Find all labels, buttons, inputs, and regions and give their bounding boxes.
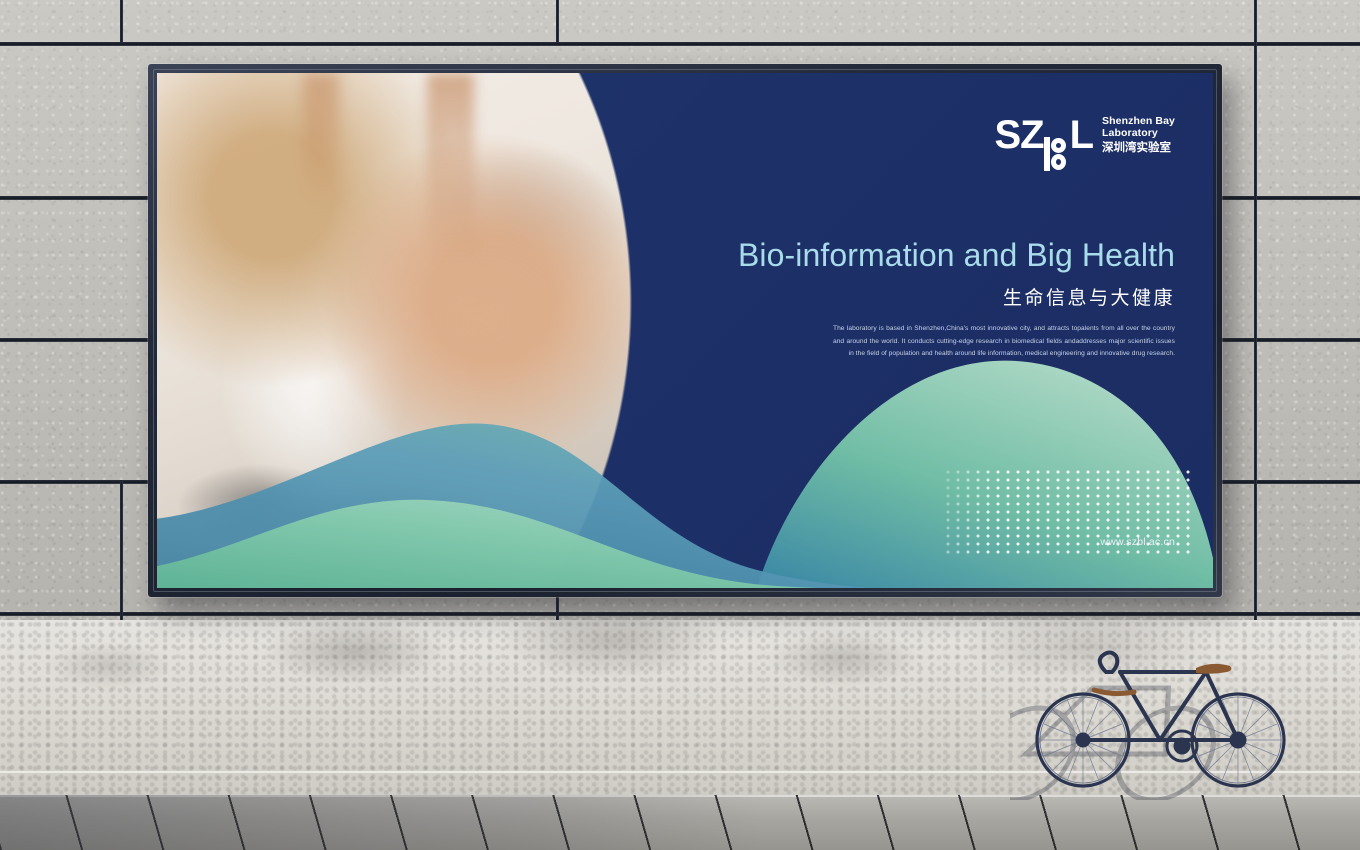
billboard-scene: S Z L Shenzhen Bay Laboratory 深圳湾实验室 Bio… [0, 0, 1360, 850]
bicycle-frame [1083, 672, 1238, 740]
pavement [0, 795, 1360, 850]
headline-chinese: 生命信息与大健康 [575, 283, 1175, 310]
logo-lockup-text: Shenzhen Bay Laboratory 深圳湾实验室 [1102, 115, 1175, 156]
bicycle-saddle [1196, 664, 1231, 674]
logo-english-line-2: Laboratory [1102, 127, 1175, 139]
wall-seam-vertical [1254, 0, 1257, 620]
bicycle-handlebar [1100, 653, 1118, 673]
wall-seam-vertical [120, 480, 123, 620]
logo-chinese-name: 深圳湾实验室 [1102, 141, 1175, 156]
bicycle [1010, 628, 1300, 800]
wall-seam-vertical [556, 596, 559, 620]
szbl-logo: S Z L Shenzhen Bay Laboratory 深圳湾实验室 [994, 115, 1175, 156]
logo-wordmark: S Z L [994, 117, 1093, 154]
wall-seam-vertical [556, 0, 559, 42]
bicycle-grip [1094, 690, 1134, 694]
logo-english-line-1: Shenzhen Bay [1102, 115, 1175, 127]
wall-seam-vertical [120, 0, 123, 42]
poster-website-url[interactable]: www.szbl.ac.cn [1100, 536, 1175, 548]
wall-seam-horizontal [0, 42, 1360, 46]
logo-letter-z: Z [1020, 117, 1043, 154]
headline-english: Bio-information and Big Health [575, 238, 1175, 274]
poster: S Z L Shenzhen Bay Laboratory 深圳湾实验室 Bio… [157, 73, 1213, 588]
logo-letter-s: S [994, 117, 1020, 154]
logo-letter-l: L [1070, 117, 1093, 154]
billboard-frame[interactable]: S Z L Shenzhen Bay Laboratory 深圳湾实验室 Bio… [148, 64, 1222, 597]
poster-headline: Bio-information and Big Health 生命信息与大健康 [575, 238, 1175, 310]
pavement-shadow [0, 795, 760, 850]
poster-body-copy: The laboratory is based in Shenzhen,Chin… [833, 323, 1175, 361]
wall-seam-horizontal [0, 612, 1360, 616]
